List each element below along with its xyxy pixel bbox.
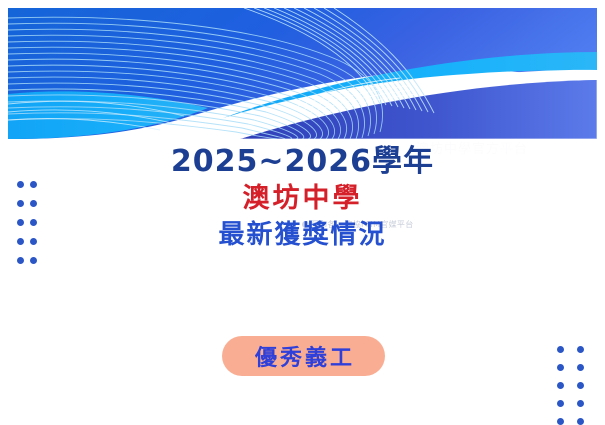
decorative-dot-grid-left — [17, 181, 37, 264]
award-category-label: 優秀義工 — [252, 340, 355, 372]
dot — [557, 364, 564, 371]
dot — [17, 238, 24, 245]
decorative-dot-grid-right — [557, 346, 584, 425]
dot — [30, 257, 37, 264]
dot — [557, 346, 564, 353]
dot — [577, 364, 584, 371]
dot — [30, 181, 37, 188]
dot — [17, 219, 24, 226]
dot — [17, 181, 24, 188]
dot — [30, 219, 37, 226]
decorative-wave-banner — [8, 8, 597, 139]
dot — [577, 382, 584, 389]
dot — [577, 400, 584, 407]
dot — [557, 418, 564, 425]
dot — [17, 257, 24, 264]
title-subtitle: 最新獲獎情況 — [0, 217, 605, 253]
page-title: 2025~2026學年 澳坊中學 最新獲獎情況 — [0, 143, 605, 253]
dot — [557, 382, 564, 389]
dot — [17, 200, 24, 207]
title-school-name: 澳坊中學 — [0, 181, 605, 217]
award-category-badge[interactable]: 優秀義工 — [222, 336, 385, 376]
dot — [30, 200, 37, 207]
dot — [577, 418, 584, 425]
dot — [577, 346, 584, 353]
title-school-year: 2025~2026學年 — [0, 143, 605, 181]
dot — [557, 400, 564, 407]
dot — [30, 238, 37, 245]
award-poster: 澳坊中學官方平台 阿布各 · 澳協FMM官媒平台 2025~2026學年 澳坊中… — [0, 0, 605, 425]
